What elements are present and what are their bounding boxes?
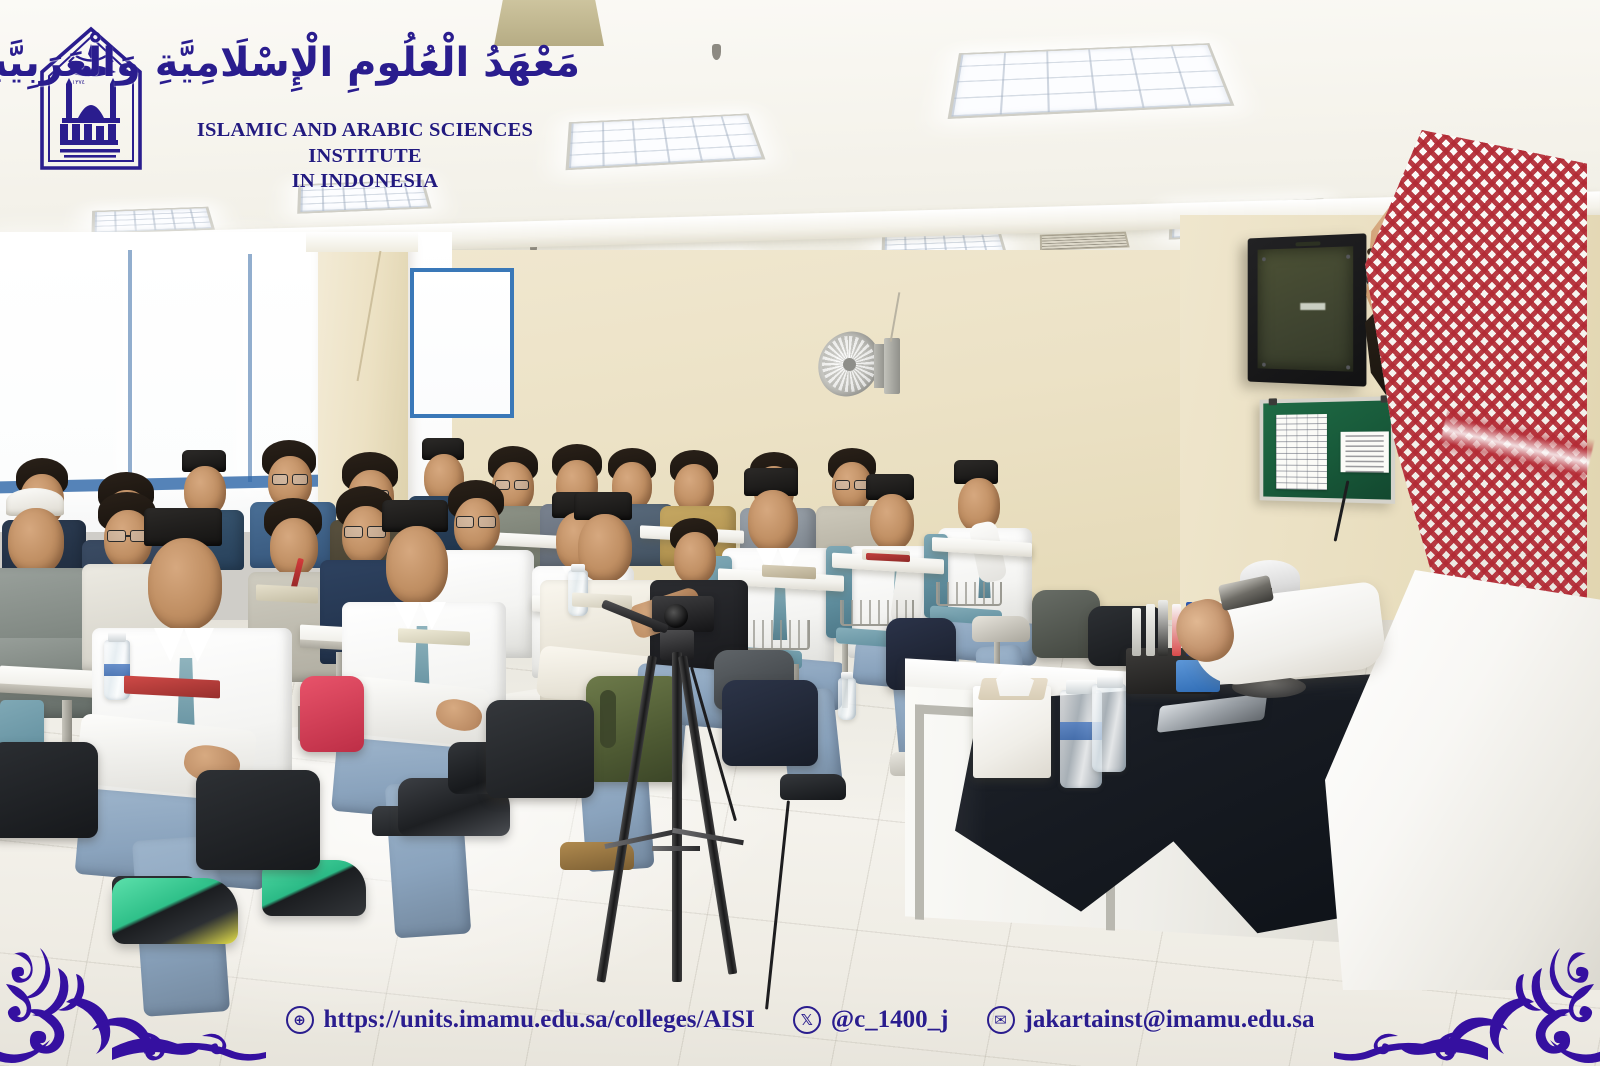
head — [386, 526, 448, 604]
head — [674, 464, 714, 512]
eyeglasses — [514, 480, 529, 490]
backpack-black — [486, 700, 594, 798]
email-address[interactable]: jakartainst@imamu.edu.sa — [1025, 1006, 1315, 1034]
eyeglasses-bridge — [126, 535, 130, 537]
bottle-label — [104, 664, 130, 676]
sneaker — [972, 616, 1030, 642]
water-bottle — [1092, 684, 1126, 772]
desk-basket — [936, 582, 1002, 606]
window-far — [410, 268, 514, 418]
eyeglasses — [478, 516, 496, 528]
tripod-spreader — [652, 846, 700, 851]
bottle-cap — [841, 672, 853, 679]
marker — [1146, 604, 1155, 656]
footer-email[interactable]: ✉ jakartainst@imamu.edu.sa — [987, 1006, 1315, 1034]
footer-website[interactable]: ⊕ https://units.imamu.edu.sa/colleges/AI… — [286, 1006, 755, 1034]
tripod-leg — [672, 652, 682, 982]
x-twitter-icon: 𝕏 — [793, 1006, 821, 1034]
backpack-navy — [722, 680, 818, 766]
pillar-cap — [306, 232, 418, 252]
eyeglasses — [292, 474, 308, 485]
bottle-cap — [108, 632, 126, 642]
backpack-black — [0, 742, 98, 838]
wall-fan — [818, 320, 918, 400]
head — [748, 490, 798, 552]
footer-x-account[interactable]: 𝕏 @c_1400_j — [793, 1006, 949, 1034]
eyeglasses — [344, 526, 363, 538]
head — [8, 508, 64, 574]
brand-english-line2: IN INDONESIA — [150, 169, 580, 195]
sneaker-green — [112, 878, 238, 944]
x-handle[interactable]: @c_1400_j — [831, 1006, 949, 1034]
eyeglasses — [272, 474, 288, 485]
brand-arabic-title: مَعْهَدُ الْعُلُومِ الْإِسْلَامِيَّةِ وَ… — [150, 40, 580, 86]
eyeglasses — [107, 530, 126, 542]
fan-hub — [843, 358, 856, 371]
head — [870, 494, 914, 550]
window-mullion — [248, 254, 252, 482]
ceiling-light-panel — [948, 43, 1235, 119]
eyeglasses — [835, 480, 850, 490]
envelope-icon: ✉ — [987, 1006, 1015, 1034]
water-bottle — [838, 678, 856, 720]
arabesque-ornament-right — [1334, 944, 1600, 1064]
marker — [1158, 600, 1168, 656]
head — [674, 532, 716, 584]
window-pane — [134, 252, 248, 482]
brand-english-line1: ISLAMIC AND ARABIC SCIENCES INSTITUTE — [150, 118, 580, 169]
brand-header: ١٣٧٤ مَعْهَدُ الْعُلُومِ الْإِسْلَامِيَّ… — [30, 22, 590, 182]
fan-bracket — [884, 338, 900, 394]
backpack-black — [196, 770, 320, 870]
photo-canvas: ١٣٧٤ مَعْهَدُ الْعُلُومِ الْإِسْلَامِيَّ… — [0, 0, 1600, 1066]
globe-icon: ⊕ — [286, 1006, 314, 1034]
marker — [1132, 608, 1141, 656]
window-pane — [0, 248, 128, 486]
notebook — [256, 584, 318, 603]
head — [148, 538, 222, 630]
bottle-cap — [571, 564, 585, 572]
brand-english-title: ISLAMIC AND ARABIC SCIENCES INSTITUTE IN… — [150, 118, 580, 195]
eyeglasses — [456, 516, 474, 528]
shoe — [780, 774, 846, 800]
window-mullion — [128, 250, 132, 488]
backpack-red — [300, 676, 364, 752]
website-url[interactable]: https://units.imamu.edu.sa/colleges/AISI — [324, 1006, 755, 1034]
head — [270, 518, 318, 576]
backpack-strap — [600, 690, 616, 748]
sprinkler-head — [712, 44, 721, 60]
lecturer — [1255, 100, 1600, 880]
bottle-cap — [1097, 676, 1123, 688]
